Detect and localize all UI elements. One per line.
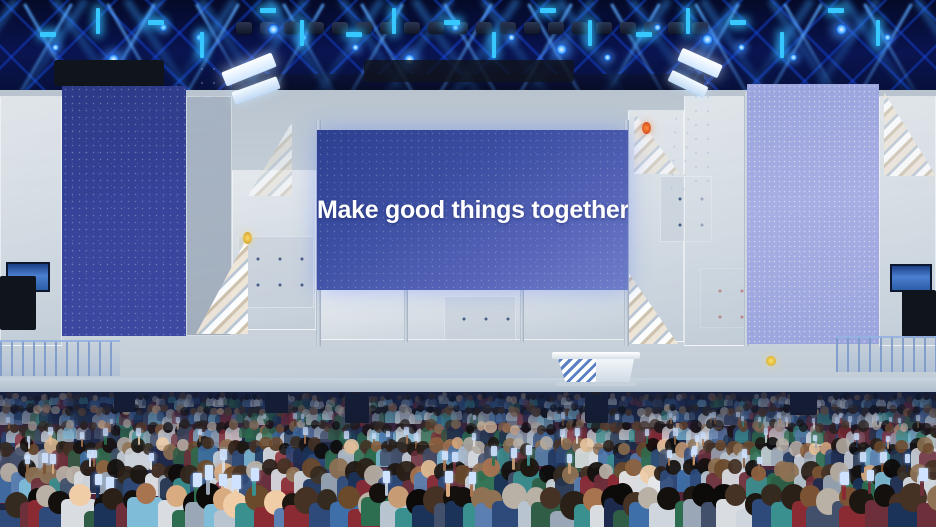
smartphone-screen <box>414 433 419 441</box>
safety-railing-right <box>836 336 936 372</box>
audience-head <box>858 420 869 432</box>
audience-head <box>417 405 424 412</box>
right-led-screen <box>747 84 879 344</box>
led-bar-light <box>876 20 880 46</box>
smartphone-screen <box>919 468 928 482</box>
audience-head <box>667 392 674 399</box>
spot-light-icon <box>268 24 279 35</box>
smartphone-screen <box>491 446 497 456</box>
smartphone-screen <box>220 449 227 460</box>
smartphone-screen <box>303 427 308 435</box>
spot-light-icon <box>654 24 661 31</box>
smartphone-screen <box>473 415 476 420</box>
audience-head <box>848 404 857 414</box>
smartphone-screen <box>293 413 297 419</box>
smartphone-screen <box>785 417 788 422</box>
moving-head-light-icon <box>284 22 300 34</box>
smartphone-screen <box>841 472 849 486</box>
smartphone-screen <box>251 468 260 482</box>
led-bar-light <box>588 20 592 46</box>
podium-base <box>556 382 636 386</box>
staff-body <box>265 392 288 413</box>
audience-head <box>66 420 75 429</box>
led-texture <box>62 86 186 336</box>
spot-light-icon <box>738 44 745 51</box>
spot-light-icon <box>604 54 611 61</box>
audience-head <box>932 394 936 400</box>
smartphone-screen <box>736 412 739 417</box>
smartphone-screen <box>48 427 53 436</box>
spot-light-icon <box>702 34 713 45</box>
smartphone-screen <box>695 435 699 441</box>
smartphone-screen <box>219 474 226 486</box>
smartphone-screen <box>898 418 901 423</box>
smartphone-screen <box>27 436 31 442</box>
smartphone-screen <box>692 446 698 455</box>
spot-light-icon <box>884 34 891 41</box>
audience-head <box>930 425 936 437</box>
audience-member <box>609 393 618 404</box>
spot-light-icon <box>836 24 847 35</box>
moving-head-light-icon <box>404 22 420 34</box>
smartphone-screen <box>667 450 672 458</box>
audience-head <box>224 407 233 416</box>
audience-head <box>51 406 59 415</box>
smartphone-screen <box>136 428 141 436</box>
audience-head <box>717 393 724 400</box>
audience-head <box>929 408 936 417</box>
smartphone-screen <box>701 432 705 439</box>
staff-member <box>585 392 609 421</box>
smartphone-screen <box>6 417 10 423</box>
moving-head-light-icon <box>692 22 708 34</box>
smartphone-screen <box>757 457 762 465</box>
smartphone-screen <box>80 432 84 439</box>
safety-railing-left <box>0 340 120 376</box>
moving-head-light-icon <box>596 22 612 34</box>
perforated-dot-panel <box>238 236 314 308</box>
audience-head <box>325 404 332 412</box>
smartphone-screen <box>867 470 874 482</box>
overhead-light-bar <box>54 60 164 86</box>
smartphone-screen <box>712 412 716 418</box>
smartphone-screen <box>567 454 573 463</box>
led-bar-light <box>828 8 844 13</box>
main-led-screen: Make good things together <box>317 130 628 290</box>
smartphone-screen <box>839 413 842 418</box>
smartphone-screen <box>25 455 31 464</box>
confidence-monitor-right <box>890 264 932 292</box>
smartphone-screen <box>472 433 476 440</box>
smartphone-screen <box>777 412 781 418</box>
smartphone-screen <box>445 471 453 484</box>
smartphone-screen <box>645 429 650 436</box>
audience-head <box>93 395 98 401</box>
spot-light-icon <box>52 44 59 51</box>
smartphone-screen <box>232 475 240 489</box>
led-bar-light <box>540 8 556 13</box>
audience-head <box>571 403 578 410</box>
audience-head <box>136 483 156 504</box>
smartphone-screen <box>42 453 48 463</box>
smartphone-screen <box>916 415 920 421</box>
smartphone-screen <box>149 453 154 461</box>
led-bar-light <box>346 32 362 37</box>
stage-mullion <box>404 288 408 342</box>
audience-member <box>923 485 936 527</box>
smartphone-screen <box>561 412 565 418</box>
smartphone-screen <box>526 445 532 455</box>
audience-head <box>655 394 661 400</box>
audience-head <box>51 392 57 398</box>
audience-head <box>309 407 318 416</box>
smartphone-screen <box>198 429 202 435</box>
smartphone-screen <box>404 427 409 435</box>
keynote-stage-scene: Make good things together <box>0 0 936 527</box>
audience-head <box>498 407 505 414</box>
smartphone-screen <box>301 414 304 419</box>
line-array-speaker <box>196 62 218 194</box>
led-texture <box>747 84 879 344</box>
smartphone-screen <box>263 414 266 419</box>
led-bar-light <box>148 20 164 25</box>
audience-head <box>12 393 18 399</box>
smartphone-screen <box>886 436 890 442</box>
spot-light-icon <box>790 54 797 61</box>
audience-head <box>681 393 687 399</box>
smartphone-screen <box>848 416 852 422</box>
audience-head <box>453 405 460 412</box>
moving-head-light-icon <box>236 22 252 34</box>
moving-head-light-icon <box>620 22 636 34</box>
smartphone-screen <box>95 474 102 486</box>
moving-head-light-icon <box>428 22 444 34</box>
audience-head <box>467 395 473 401</box>
led-bar-light <box>444 20 460 25</box>
led-bar-light <box>260 8 276 13</box>
smartphone-screen <box>669 413 672 418</box>
spot-light-icon <box>452 24 459 31</box>
moving-head-light-icon <box>476 22 492 34</box>
smartphone-screen <box>673 428 678 436</box>
audience-head <box>923 392 930 399</box>
audience-head <box>488 396 493 402</box>
audience-head <box>202 437 214 449</box>
spot-light-icon <box>556 44 567 55</box>
spot-light-icon <box>160 24 167 31</box>
moving-head-light-icon <box>572 22 588 34</box>
staff-member <box>790 392 819 413</box>
screen-headline-text: Make good things together <box>317 196 628 225</box>
amber-accent-light <box>766 356 776 366</box>
audience-crowd <box>0 392 936 527</box>
moving-head-light-icon <box>668 22 684 34</box>
smartphone-screen <box>560 429 565 437</box>
staff-body <box>790 392 817 415</box>
perforated-dot-panel <box>444 296 516 340</box>
smartphone-screen <box>92 450 97 458</box>
smartphone-screen <box>673 416 676 422</box>
amber-accent-light <box>243 232 252 244</box>
audience-head <box>163 422 174 433</box>
audience-head <box>78 408 86 416</box>
audience-head <box>161 394 167 401</box>
smartphone-screen <box>205 465 214 479</box>
audience-head <box>265 420 274 429</box>
moving-head-light-icon <box>524 22 540 34</box>
smartphone-screen <box>905 454 910 463</box>
led-bar-light <box>40 32 56 37</box>
audience-head <box>244 394 250 400</box>
led-bar-light <box>492 32 496 58</box>
audience-head <box>610 393 615 398</box>
audience-head <box>679 421 688 430</box>
smartphone-screen <box>835 417 839 423</box>
led-bar-light <box>730 20 746 25</box>
smartphone-screen <box>813 435 817 441</box>
led-bar-light <box>96 8 100 34</box>
speaker-cabinet <box>902 290 936 338</box>
smartphone-screen <box>575 428 580 436</box>
moving-head-light-icon <box>308 22 324 34</box>
spot-light-icon <box>508 34 515 41</box>
led-bar-light <box>200 32 204 58</box>
smartphone-screen <box>764 428 768 435</box>
audience-member <box>192 392 201 403</box>
led-bar-light <box>392 8 396 34</box>
stage-mullion <box>520 288 524 342</box>
audience-head <box>879 406 886 414</box>
led-bar-light <box>636 32 652 37</box>
left-led-screen <box>62 86 186 336</box>
audience-head <box>418 394 424 401</box>
audience-head <box>625 409 632 416</box>
audience-head <box>761 392 768 399</box>
audience-head <box>451 419 461 429</box>
staff-member <box>114 392 136 410</box>
led-bar-light <box>780 32 784 58</box>
podium <box>556 352 636 386</box>
staff-body <box>585 394 608 423</box>
audience-head <box>799 423 808 433</box>
audience-head <box>69 484 90 506</box>
smartphone-screen <box>889 417 892 422</box>
audience-head <box>430 393 436 399</box>
staff-body <box>345 393 369 423</box>
smartphone-screen <box>854 433 858 440</box>
amber-accent-light <box>642 122 651 134</box>
smartphone-screen <box>615 414 619 421</box>
audience-head <box>193 392 198 398</box>
smartphone-screen <box>741 416 744 421</box>
smartphone-screen <box>742 449 748 458</box>
audience-head <box>229 419 239 429</box>
smartphone-screen <box>386 431 390 438</box>
led-bar-light <box>686 8 690 34</box>
smartphone-screen <box>860 452 866 462</box>
audience-head <box>385 395 390 401</box>
smartphone-screen <box>469 472 476 484</box>
smartphone-screen <box>758 417 761 422</box>
smartphone-screen <box>452 452 459 463</box>
smartphone-screen <box>50 454 56 463</box>
moving-head-light-icon <box>500 22 516 34</box>
podium-side-panel <box>596 359 634 383</box>
speaker-cabinet <box>0 276 36 330</box>
audience-head <box>754 394 759 399</box>
audience-head <box>144 394 149 400</box>
overhead-light-bar <box>364 60 574 82</box>
audience-head <box>511 396 518 403</box>
staff-member <box>265 392 289 411</box>
smartphone-screen <box>103 428 108 436</box>
smartphone-screen <box>372 433 376 439</box>
audience-head <box>136 408 144 416</box>
led-bar-light <box>300 20 304 46</box>
smartphone-screen <box>110 419 113 425</box>
staff-member <box>345 392 371 422</box>
podium-top-surface <box>552 352 640 359</box>
audience-head <box>820 406 829 415</box>
moving-head-light-icon <box>548 22 564 34</box>
staff-body <box>114 392 135 412</box>
smartphone-screen <box>383 471 390 483</box>
smartphone-screen <box>442 451 448 461</box>
spot-light-icon <box>352 44 359 51</box>
audience-head <box>405 394 411 400</box>
